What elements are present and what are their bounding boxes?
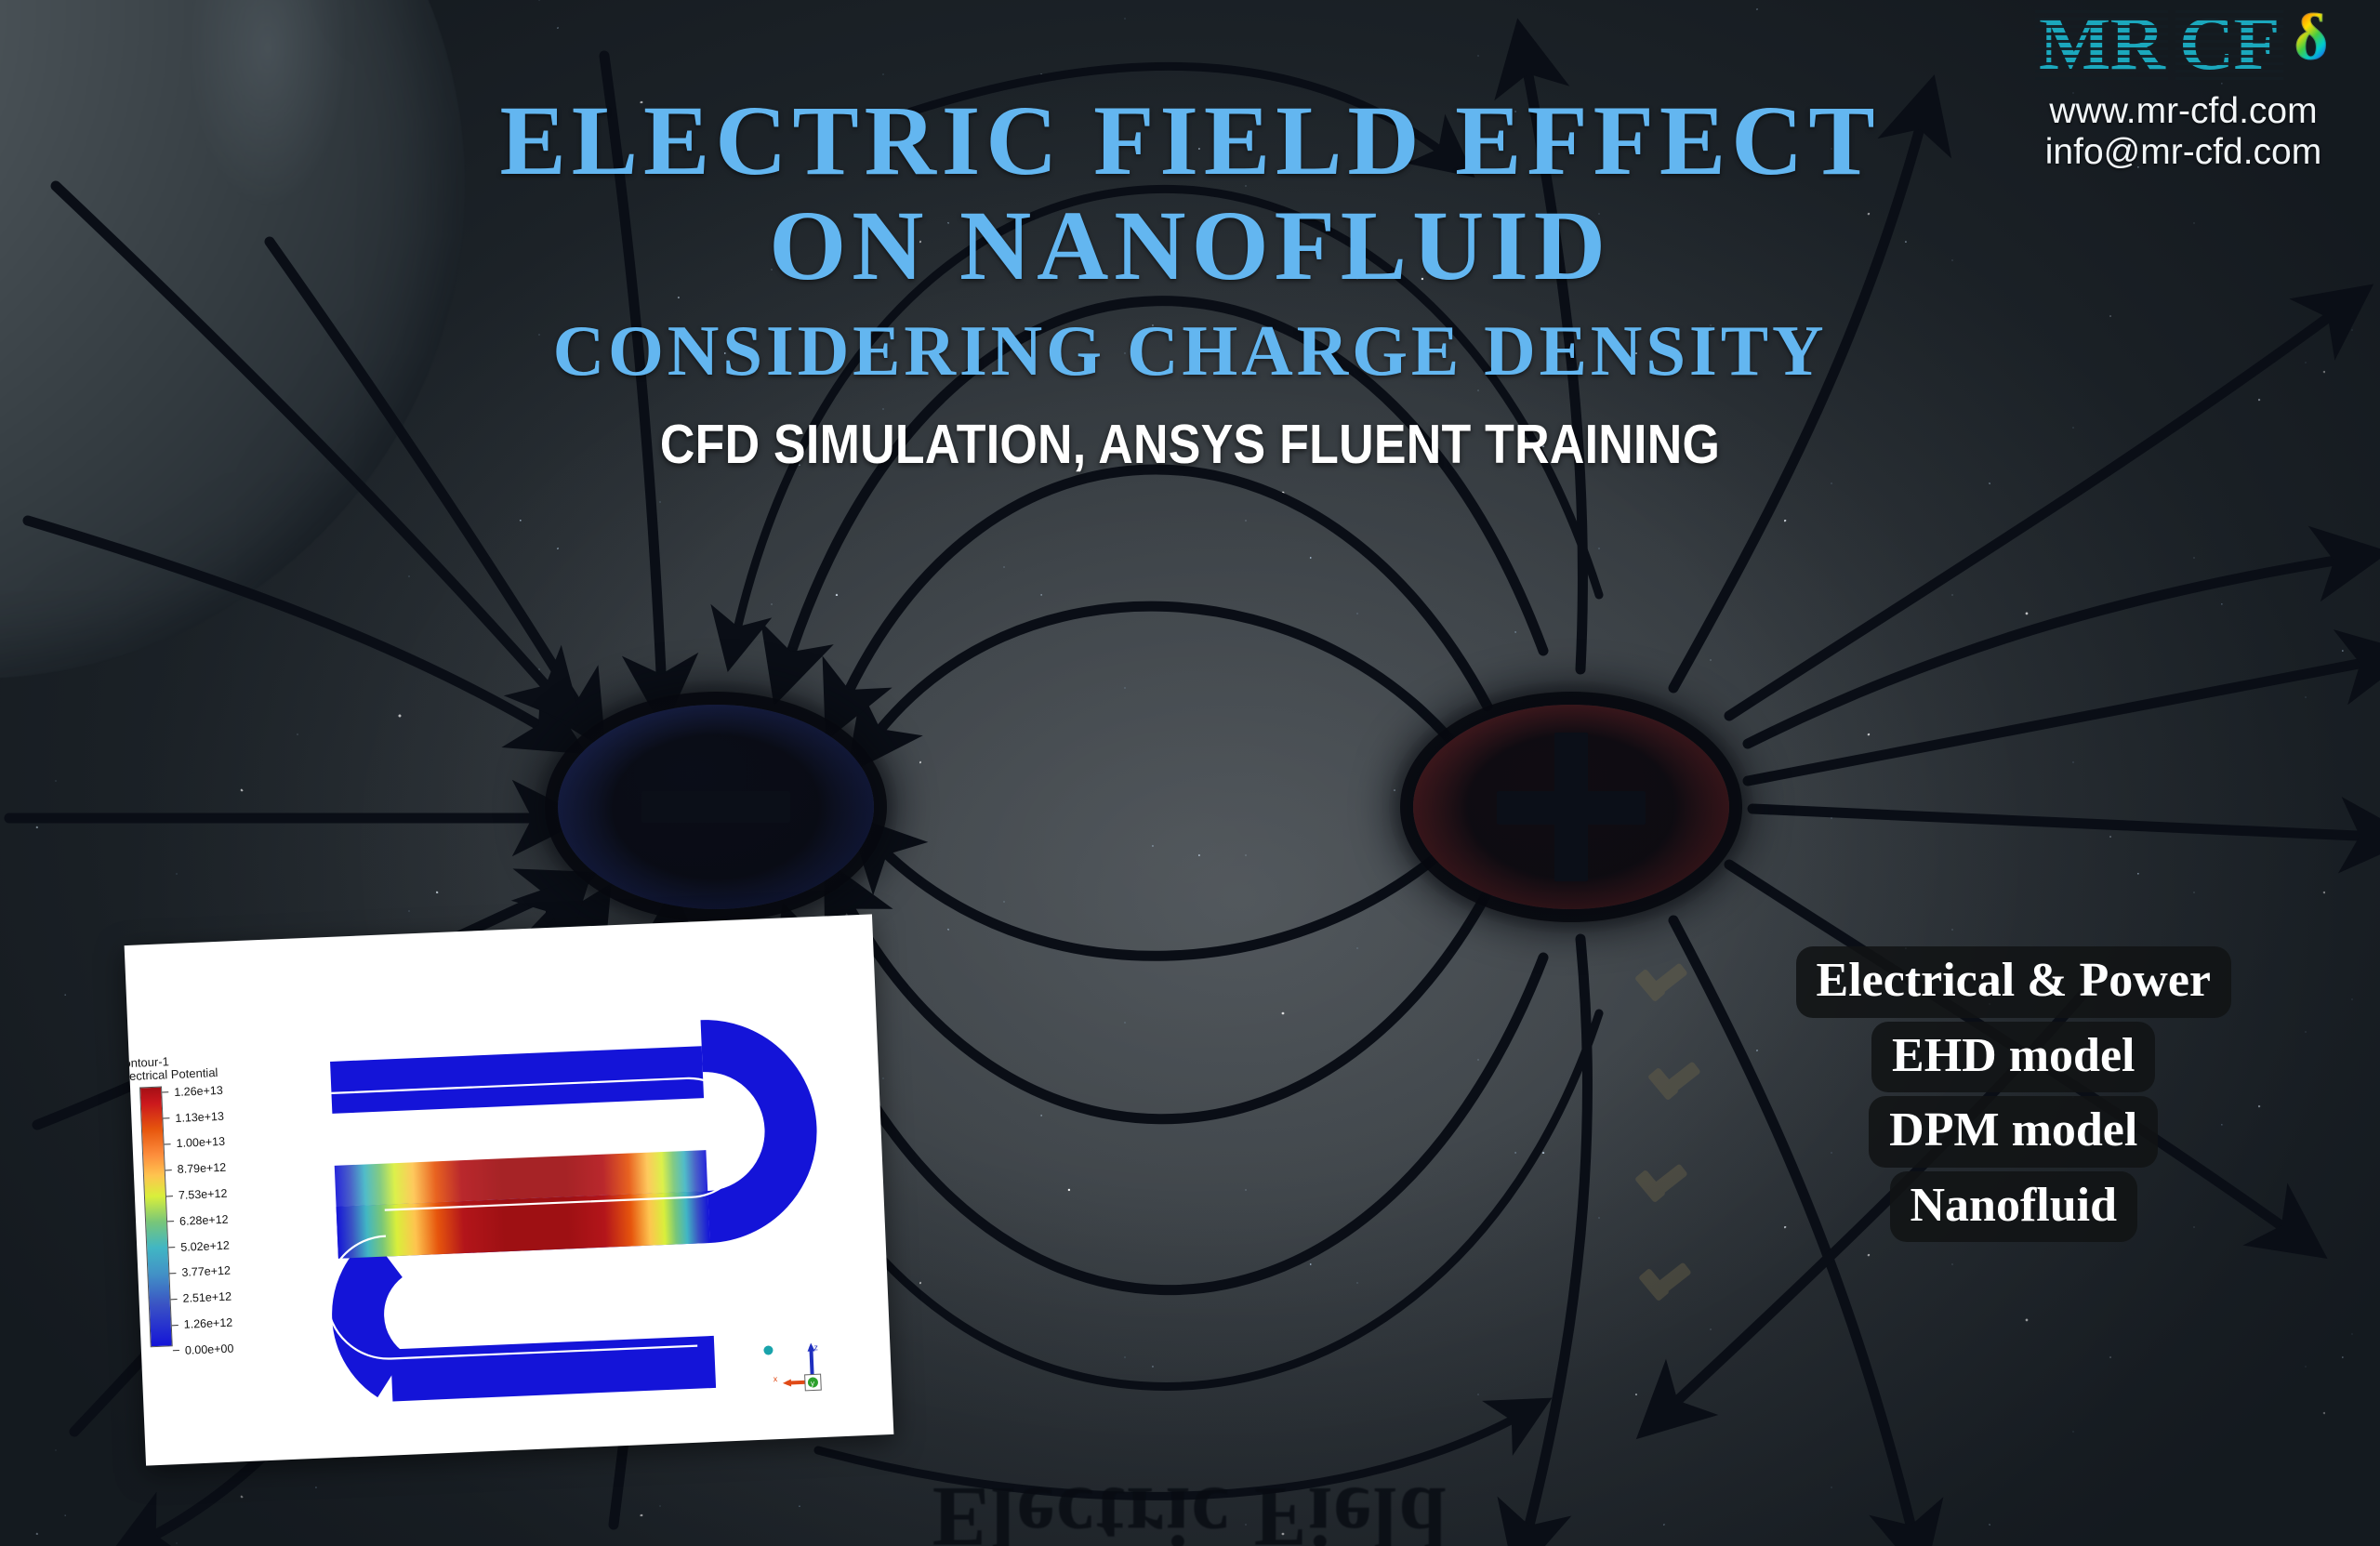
chevron-check-icon-2 <box>1638 1071 1698 1130</box>
feature-label-nanofluid: Nanofluid <box>1890 1171 2138 1243</box>
brand-email[interactable]: info@mr-cfd.com <box>2039 132 2328 173</box>
feature-list-item: Electrical & Power <box>1796 946 2231 1018</box>
feature-list: Electrical & Power EHD model DPM model N… <box>1796 946 2231 1246</box>
feature-label-dpm-model: DPM model <box>1869 1096 2158 1168</box>
title-block: ELECTRIC FIELD EFFECT ON NANOFLUID CONSI… <box>0 89 2380 476</box>
page-title-line-3: CONSIDERING CHARGE DENSITY <box>0 313 2380 390</box>
colorbar-tick-label: 5.02e+12 <box>180 1238 230 1253</box>
colorbar-tick-label: 6.28e+12 <box>179 1213 229 1228</box>
contour-geometry: z x y <box>217 958 886 1449</box>
negative-charge-marker <box>558 705 874 909</box>
brand-website[interactable]: www.mr-cfd.com <box>2039 91 2328 132</box>
feature-label-electrical-power: Electrical & Power <box>1796 946 2231 1018</box>
brand-logo-word-mr: MR <box>2039 6 2164 82</box>
colorbar-tick-label: 1.26e+12 <box>183 1316 232 1331</box>
chevron-check-icon-4 <box>1629 1272 1688 1331</box>
brand-logo: MR CF δ <box>2039 6 2328 91</box>
colorbar-tick-label: 8.79e+12 <box>177 1161 226 1176</box>
feature-list-item: EHD model <box>1796 1022 2231 1093</box>
minus-sign-icon <box>641 791 790 823</box>
plus-sign-icon <box>1497 733 1646 881</box>
chevron-check-icon-1 <box>1625 972 1685 1032</box>
colorbar-tick-label: 3.77e+12 <box>181 1264 231 1279</box>
colorbar-tick-label: 1.13e+13 <box>175 1109 224 1124</box>
svg-text:x: x <box>773 1374 778 1383</box>
feature-list-item: Nanofluid <box>1796 1171 2231 1243</box>
svg-text:y: y <box>811 1379 814 1387</box>
svg-text:z: z <box>813 1342 818 1352</box>
poster-canvas: .fl{fill:none;stroke:#0a0e16;stroke-widt… <box>0 0 2380 1546</box>
colorbar-tick-label: 7.53e+12 <box>178 1187 228 1202</box>
page-title-line-1: ELECTRIC FIELD EFFECT <box>0 89 2380 194</box>
feature-list-item: DPM model <box>1796 1096 2231 1168</box>
positive-charge-marker <box>1413 705 1729 909</box>
colorbar-tick-label: 2.51e+12 <box>182 1290 231 1305</box>
bottom-ghost-text: Electric Field <box>0 1468 2380 1546</box>
colorbar-tick-label: 0.00e+00 <box>185 1341 234 1356</box>
brand-logo-delta-icon: δ <box>2294 6 2328 71</box>
axis-triad-icon: z x y <box>763 1342 821 1392</box>
chevron-check-icon-3 <box>1625 1173 1685 1233</box>
feature-label-ehd-model: EHD model <box>1871 1022 2155 1093</box>
colorbar-tick-label: 1.00e+13 <box>176 1135 225 1150</box>
page-subtitle: CFD SIMULATION, ANSYS FLUENT TRAINING <box>143 413 2238 476</box>
colorbar-tick-label: 1.26e+13 <box>174 1084 223 1099</box>
page-title-line-2: ON NANOFLUID <box>0 194 2380 299</box>
contour-plot-card[interactable]: contour-1 Electrical Potential 1.26e+13 … <box>125 914 894 1465</box>
brand-logo-word-cf: CF <box>2179 6 2280 82</box>
brand-block: MR CF δ www.mr-cfd.com info@mr-cfd.com <box>2039 6 2328 173</box>
